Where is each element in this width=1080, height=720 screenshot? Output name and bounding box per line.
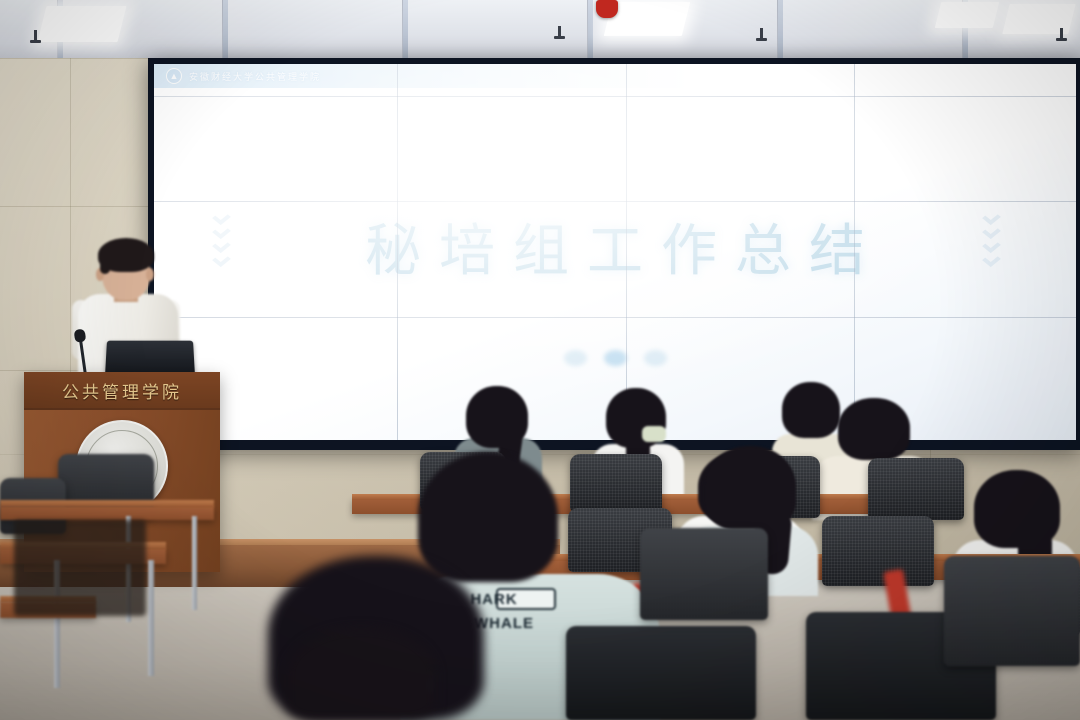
foreground-head-far-left (286, 628, 436, 720)
university-crest-icon: ▲ (166, 68, 182, 84)
sprinkler-icon (34, 30, 37, 43)
ceiling-light (1002, 4, 1075, 34)
photo-canvas: ▲ 安徽财经大学公共管理学院 秘培组工作总结 (0, 0, 1080, 720)
sprinkler-icon (760, 28, 763, 41)
slide-dot (604, 350, 627, 366)
chair (822, 516, 934, 586)
laptop-icon (105, 341, 195, 376)
desk-stage-back (0, 506, 214, 520)
fire-alarm-icon (596, 0, 618, 18)
ceiling-light (935, 2, 999, 28)
chair (868, 458, 964, 520)
sprinkler-icon (558, 26, 561, 39)
podium-sign: 公共管理学院 (24, 372, 220, 410)
slide-dot (644, 350, 667, 366)
slide-surface: ▲ 安徽财经大学公共管理学院 秘培组工作总结 (154, 64, 1076, 440)
podium-sign-text: 公共管理学院 (62, 378, 182, 403)
sprinkler-icon (1060, 28, 1063, 41)
chair-foreground (944, 556, 1080, 666)
slide-dot (564, 350, 587, 366)
chair-foreground (566, 626, 756, 720)
chair (570, 454, 662, 512)
chair-stage-dark (14, 520, 146, 616)
chair-foreground (640, 528, 768, 620)
slide-header-bar: ▲ 安徽财经大学公共管理学院 (154, 64, 689, 88)
slide-header-text: 安徽财经大学公共管理学院 (189, 70, 321, 83)
ceiling (0, 0, 1080, 62)
ceiling-light (38, 6, 127, 42)
speaker-hair (98, 238, 154, 272)
slide-title: 秘培组工作总结 (154, 206, 1076, 287)
slide-dots-decor (154, 350, 1076, 366)
